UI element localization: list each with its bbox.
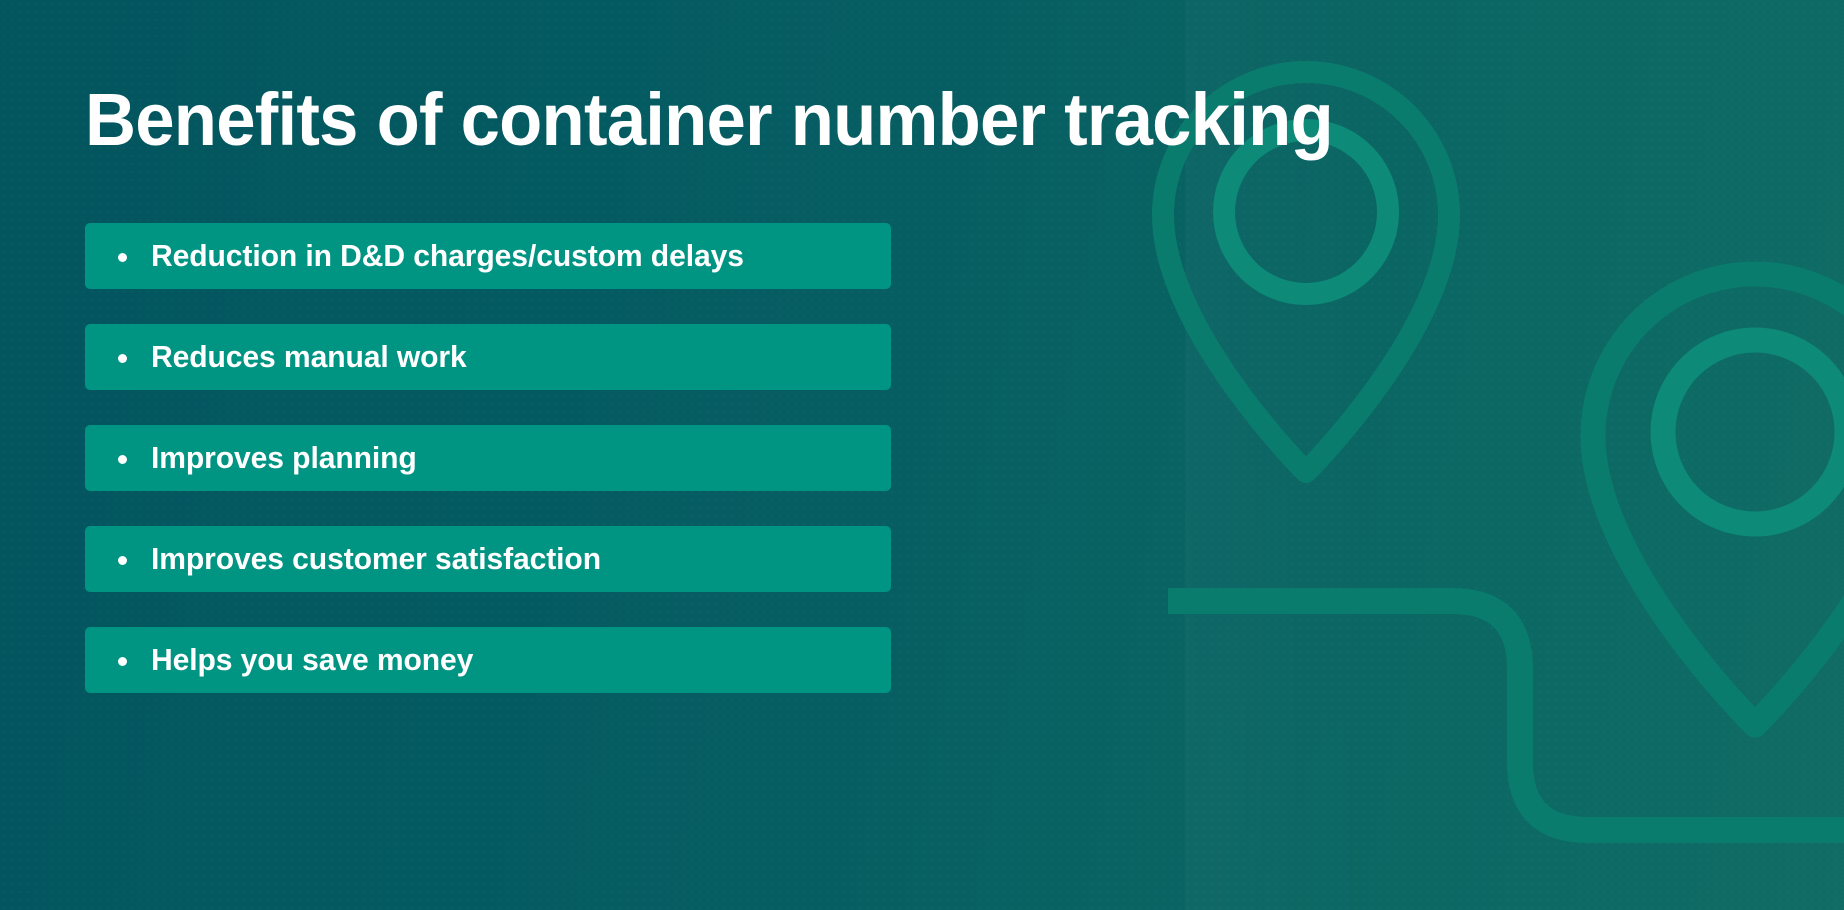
map-pin-right-icon [1593,274,1844,725]
benefits-list: Reduction in D&D charges/custom delays R… [85,223,891,693]
benefit-label: Reduction in D&D charges/custom delays [151,238,744,274]
benefit-item-3: Improves planning [85,425,891,491]
benefit-label: Reduces manual work [151,339,467,375]
bullet-icon [118,556,127,565]
benefit-label: Improves customer satisfaction [151,541,601,577]
benefit-item-5: Helps you save money [85,627,891,693]
benefits-banner: Benefits of container number tracking Re… [0,0,1844,910]
page-title: Benefits of container number tracking [85,83,1333,157]
benefit-item-1: Reduction in D&D charges/custom delays [85,223,891,289]
benefit-item-4: Improves customer satisfaction [85,526,891,592]
route-path [1168,601,1844,830]
banner-content: Benefits of container number tracking Re… [85,0,1085,910]
benefit-label: Improves planning [151,440,417,476]
benefit-label: Helps you save money [151,642,473,678]
bullet-icon [118,253,127,262]
bullet-icon [118,354,127,363]
benefit-item-2: Reduces manual work [85,324,891,390]
bullet-icon [118,455,127,464]
bullet-icon [118,657,127,666]
